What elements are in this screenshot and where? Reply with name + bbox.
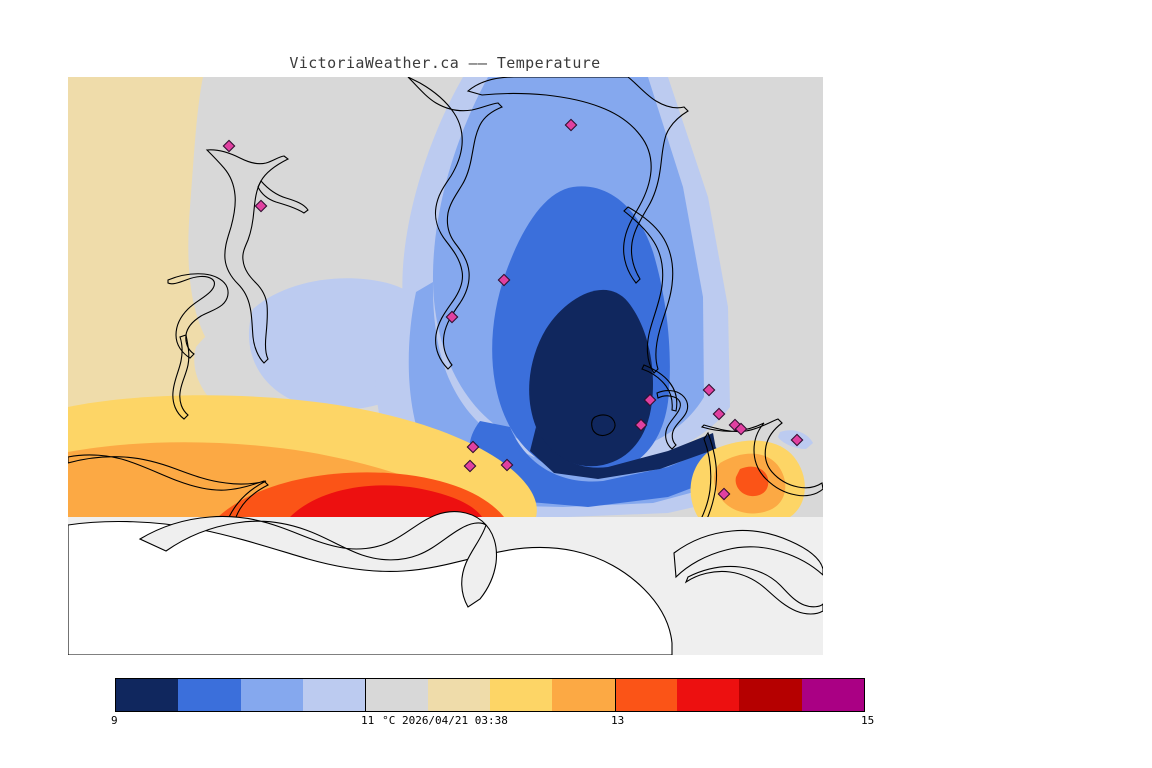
colorbar-gradient[interactable] (115, 678, 865, 712)
colorbar-segment-14.5 (802, 679, 864, 711)
land-below-field (68, 512, 823, 655)
contour-field (68, 77, 823, 517)
colorbar-segment-12.5 (552, 679, 614, 711)
colorbar[interactable]: 9111315 (115, 678, 865, 712)
weather-map-page: VictoriaWeather.ca —— Temperature (0, 0, 1152, 768)
colorbar-tick-11 (365, 678, 366, 712)
map-canvas (68, 77, 823, 655)
colorbar-segment-10.5 (303, 679, 365, 711)
temperature-map[interactable] (68, 77, 823, 655)
colorbar-segment-14 (739, 679, 801, 711)
page-title: VictoriaWeather.ca —— Temperature (0, 54, 890, 72)
colorbar-units-timestamp: °C 2026/04/21 03:38 (0, 714, 890, 727)
colorbar-segment-11.5 (428, 679, 490, 711)
colorbar-segment-10 (241, 679, 303, 711)
colorbar-segment-11 (365, 679, 427, 711)
colorbar-segment-12 (490, 679, 552, 711)
colorbar-segment-9 (116, 679, 178, 711)
colorbar-segment-13.5 (677, 679, 739, 711)
colorbar-segment-13 (615, 679, 677, 711)
colorbar-segment-9.5 (178, 679, 240, 711)
colorbar-tick-13 (615, 678, 616, 712)
